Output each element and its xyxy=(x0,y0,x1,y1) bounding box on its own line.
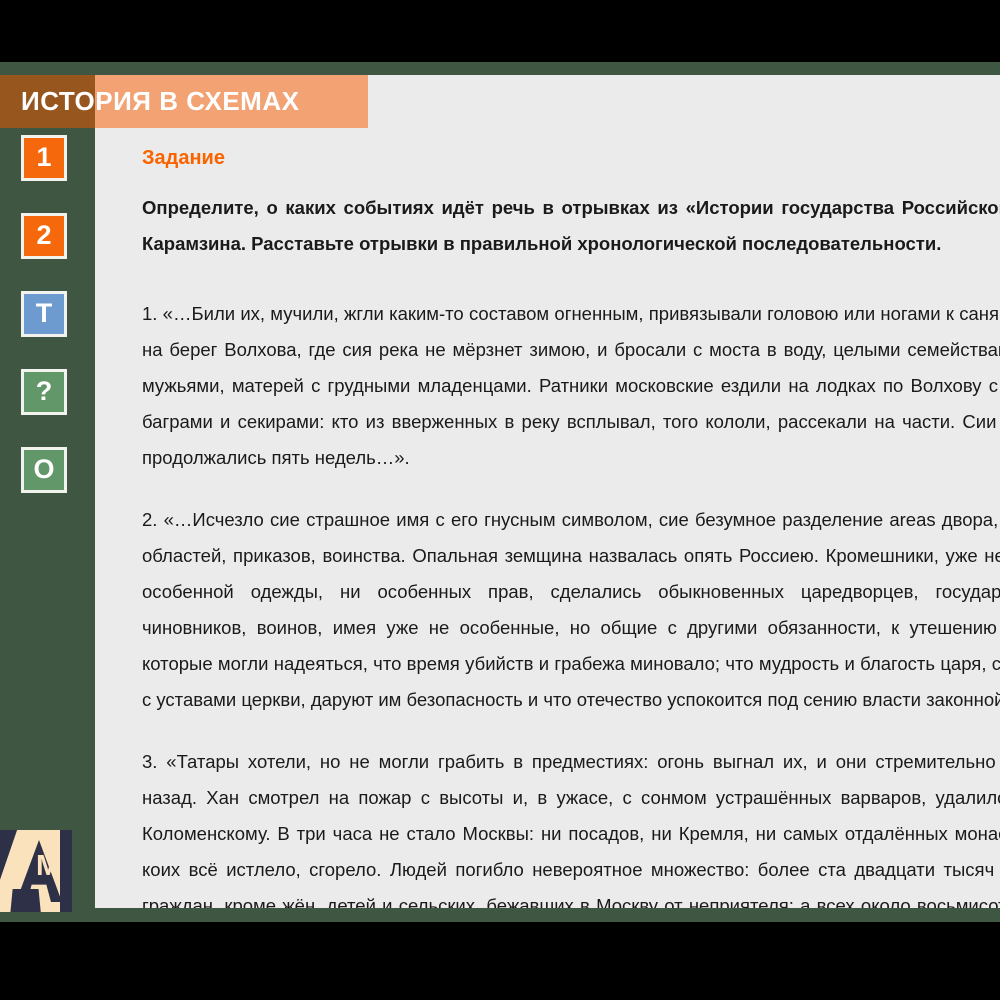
number-two-icon: 2 xyxy=(36,222,51,249)
letter-t-icon: T xyxy=(36,300,53,327)
excerpt-item: 2. «…Исчезло сие страшное имя с его гнус… xyxy=(142,502,1000,718)
task-heading: Задание xyxy=(142,147,1000,170)
number-one-icon: 1 xyxy=(36,144,51,171)
sidebar-item-one[interactable]: 1 xyxy=(21,135,67,181)
content-panel: Задание Определите, о каких событиях идё… xyxy=(95,75,1000,908)
sidebar-item-answer[interactable]: O xyxy=(21,447,67,493)
content-body: Задание Определите, о каких событиях идё… xyxy=(142,147,1000,908)
task-prompt: Определите, о каких событиях идёт речь в… xyxy=(142,190,1000,262)
letterbox-top xyxy=(0,0,1000,62)
sidebar-item-text[interactable]: T xyxy=(21,291,67,337)
sidebar-icon-list: 1 2 T ? O xyxy=(0,135,95,525)
question-mark-icon: ? xyxy=(36,378,53,405)
page-title: ИСТОРИЯ В СХЕМАХ xyxy=(21,75,421,128)
brand-logo: M xyxy=(0,830,72,912)
logo-m-letter: M xyxy=(36,850,60,883)
excerpt-item: 1. «…Били их, мучили, жгли каким-то сост… xyxy=(142,296,1000,476)
excerpt-item: 3. «Татары хотели, но не могли грабить в… xyxy=(142,744,1000,908)
sidebar-item-question[interactable]: ? xyxy=(21,369,67,415)
slide-canvas: 1 2 T ? O M xyxy=(0,62,1000,922)
letterbox-bottom xyxy=(0,922,1000,1000)
sidebar-item-two[interactable]: 2 xyxy=(21,213,67,259)
sidebar: 1 2 T ? O M xyxy=(0,62,95,922)
slide-stage: 1 2 T ? O M xyxy=(0,0,1000,1000)
letter-o-icon: O xyxy=(33,456,54,483)
